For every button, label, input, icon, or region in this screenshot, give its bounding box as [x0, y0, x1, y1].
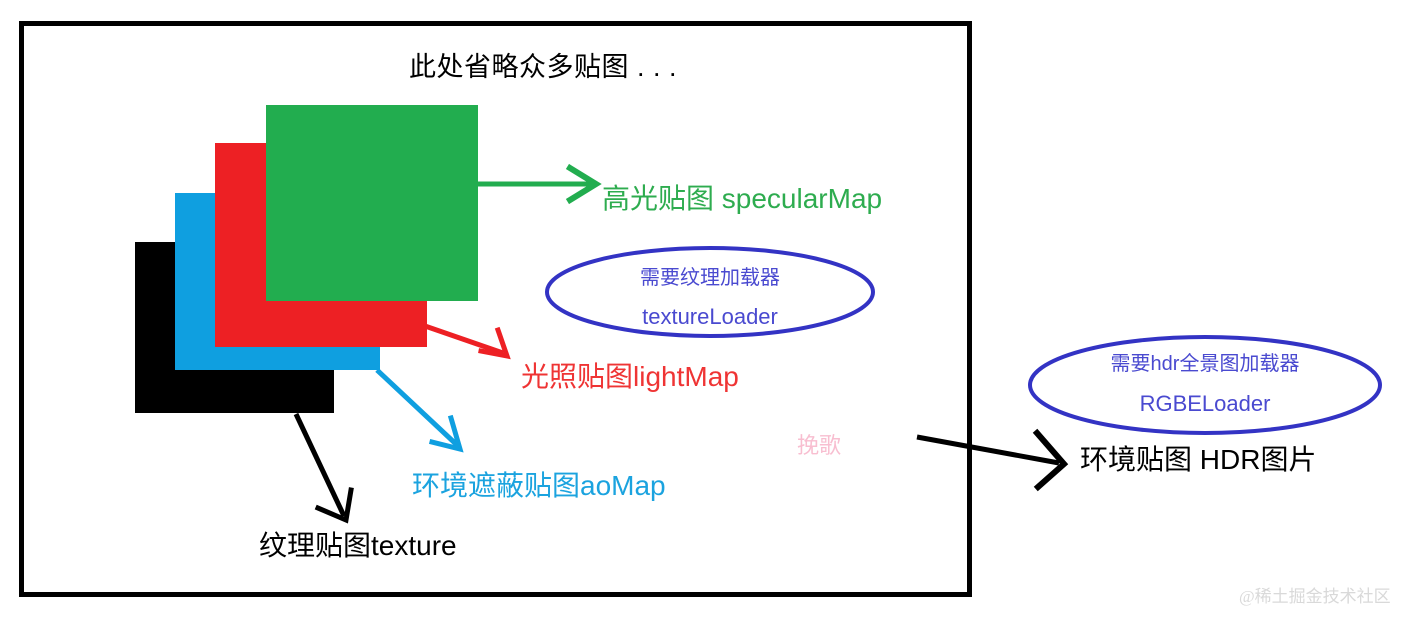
author-watermark: 挽歌 — [797, 435, 841, 457]
label-light-map: 光照贴图lightMap — [521, 363, 739, 391]
hdr-arrow — [917, 433, 1064, 487]
rgbe-loader-note-line1: 需要hdr全景图加载器 — [1045, 354, 1365, 374]
rgbe-loader-ellipse — [1030, 337, 1380, 433]
diagram-title: 此处省略众多贴图 . . . — [409, 54, 677, 81]
label-ao-map: 环境遮蔽贴图aoMap — [412, 472, 666, 500]
specular-layer-green — [266, 105, 478, 301]
diagram-canvas: 此处省略众多贴图 . . . 高光贴图 specularMap 光照贴图ligh… — [0, 0, 1418, 623]
rgbe-loader-note-line2: RGBELoader — [1045, 393, 1365, 415]
label-specular-map: 高光贴图 specularMap — [602, 185, 882, 213]
texture-arrow — [296, 414, 351, 520]
site-watermark: @稀土掘金技术社区 — [1239, 588, 1391, 605]
texture-loader-note-line1: 需要纹理加载器 — [560, 268, 860, 288]
label-hdr-map: 环境贴图 HDR图片 — [1080, 446, 1316, 474]
texture-loader-note-line2: textureLoader — [560, 306, 860, 328]
ao-arrow — [377, 370, 460, 449]
specular-arrow — [477, 168, 596, 200]
light-arrow — [425, 326, 507, 356]
label-texture-map: 纹理贴图texture — [259, 532, 457, 560]
